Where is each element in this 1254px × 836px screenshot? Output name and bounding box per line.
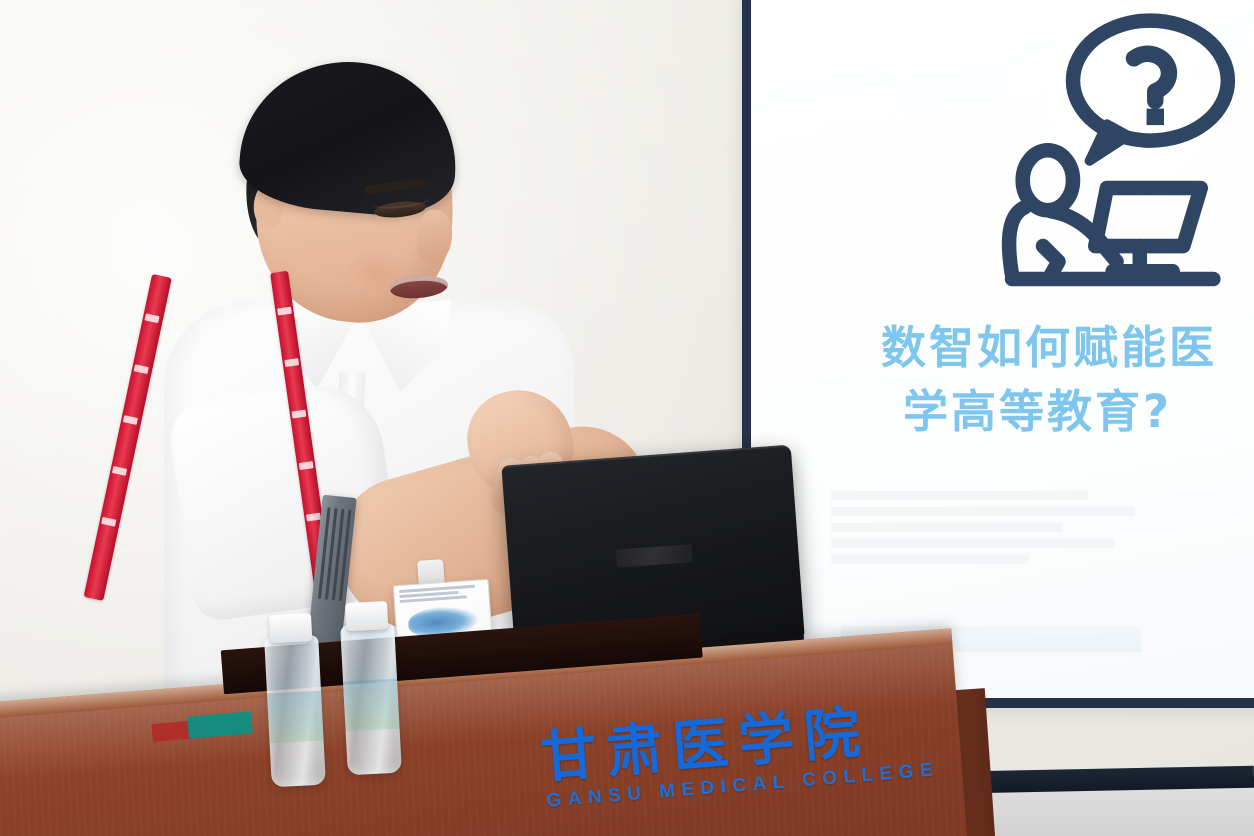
slide-title-line2: 学高等教育? bbox=[881, 380, 1254, 444]
hair bbox=[236, 53, 464, 221]
bottle-label bbox=[343, 679, 400, 732]
bottle-label bbox=[267, 691, 324, 744]
slide-title-line1: 数智如何赋能医 bbox=[881, 316, 1254, 380]
water-bottle[interactable] bbox=[340, 623, 402, 776]
presentation-photo: 数智如何赋能医 学高等教育? bbox=[0, 0, 1254, 836]
water-bottle[interactable] bbox=[264, 635, 326, 788]
bottle-cap bbox=[345, 601, 388, 631]
person-at-computer-question-icon bbox=[991, 8, 1246, 308]
slide-ghost-text bbox=[831, 491, 1161, 596]
badge-header-text bbox=[399, 584, 484, 606]
projection-screen: 数智如何赋能医 学高等教育? bbox=[742, 0, 1254, 708]
bottle-cap bbox=[269, 613, 312, 643]
slide-surface: 数智如何赋能医 学高等教育? bbox=[751, 0, 1254, 698]
slide-title: 数智如何赋能医 学高等教育? bbox=[881, 316, 1254, 444]
